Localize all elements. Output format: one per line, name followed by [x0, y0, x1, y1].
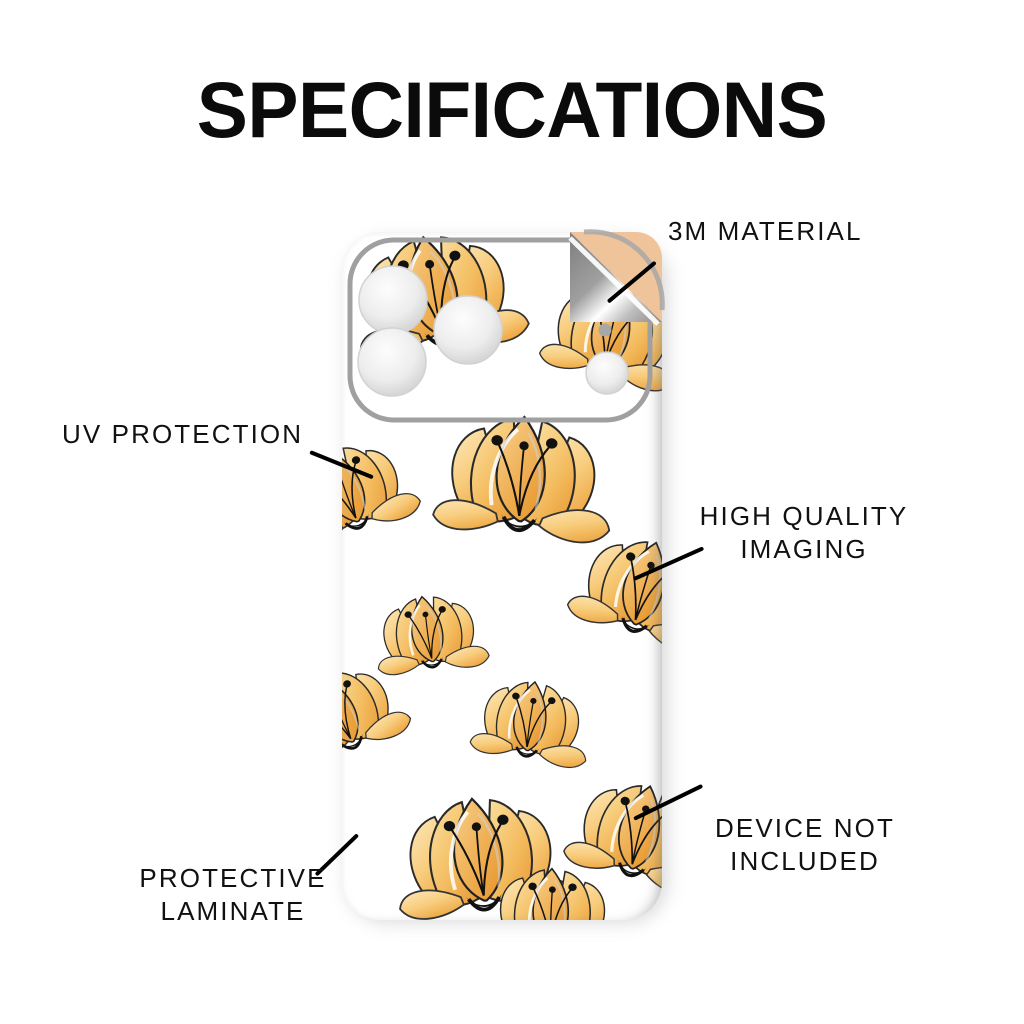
label-protective-laminate: PROTECTIVE LAMINATE: [138, 862, 328, 928]
flower-pattern: [342, 232, 662, 920]
specifications-graphic: SPECIFICATIONS: [0, 0, 1024, 1024]
peeling-corner-detail: [562, 228, 666, 328]
phone-skin-artwork: [342, 232, 662, 920]
label-high-quality-imaging: HIGH QUALITY IMAGING: [690, 500, 918, 566]
label-device-not-included: DEVICE NOT INCLUDED: [700, 812, 910, 878]
page-title: SPECIFICATIONS: [15, 70, 1008, 149]
label-uv-protection: UV PROTECTION: [62, 418, 303, 451]
label-3m-material: 3M MATERIAL: [668, 215, 863, 248]
